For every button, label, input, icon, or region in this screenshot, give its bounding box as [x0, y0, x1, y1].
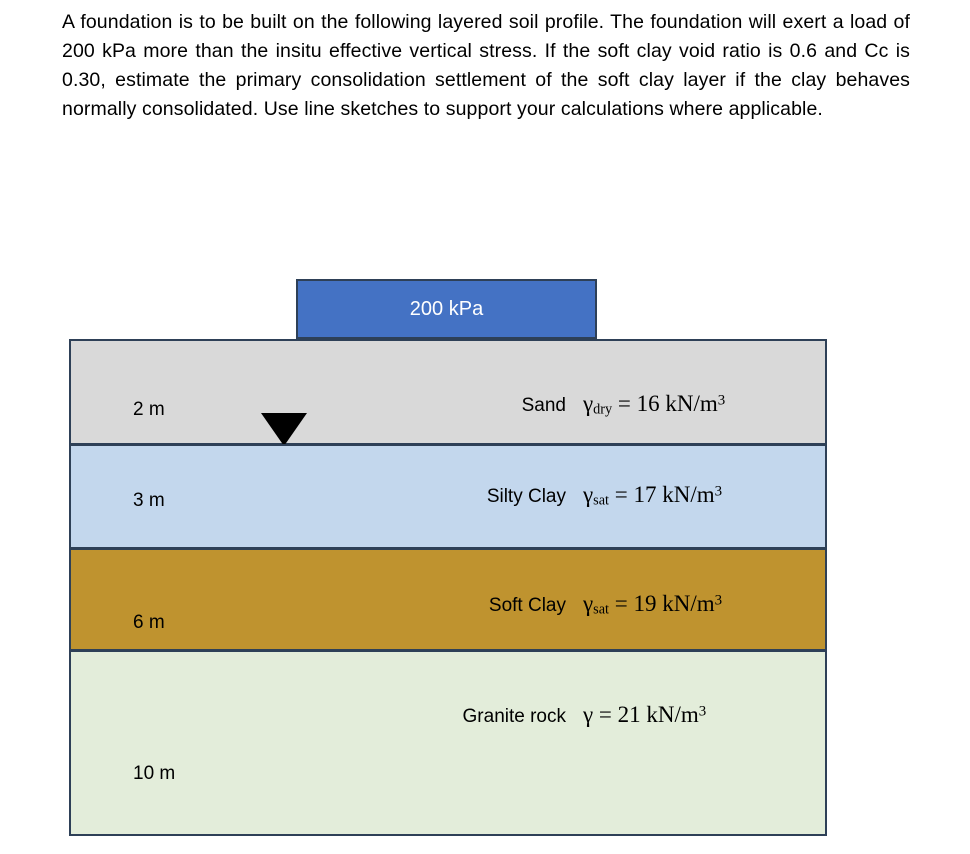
gamma-symbol-silty-clay: γ	[583, 482, 593, 507]
gamma-exponent-sand: 3	[718, 392, 725, 408]
unit-weight-silty-clay: γsat = 17 kN/m3	[583, 482, 722, 510]
gamma-subscript-sand: dry	[593, 402, 612, 418]
unit-weight-sand: γdry = 16 kN/m3	[583, 391, 725, 419]
gamma-exponent-silty-clay: 3	[715, 483, 722, 499]
soil-layer-soft-clay: 6 m Soft Clay γsat = 19 kN/m3	[69, 548, 827, 651]
gamma-symbol-sand: γ	[583, 391, 593, 416]
layer-name-sand: Sand	[411, 395, 566, 417]
foundation-load-block: 200 kPa	[296, 279, 597, 339]
gamma-value-granite-rock: = 21 kN/m	[599, 702, 699, 727]
gamma-symbol-soft-clay: γ	[583, 591, 593, 616]
soil-layer-granite-rock: 10 m Granite rock γ = 21 kN/m3	[69, 650, 827, 836]
soil-layer-silty-clay: 3 m Silty Clay γsat = 17 kN/m3	[69, 444, 827, 549]
layer-name-granite-rock: Granite rock	[391, 706, 566, 728]
soil-layer-stack: 2 m Sand γdry = 16 kN/m3 3 m Silty Clay …	[69, 339, 827, 836]
gamma-symbol-granite-rock: γ	[583, 702, 593, 727]
layer-thickness-soft-clay: 6 m	[133, 612, 165, 634]
gamma-subscript-soft-clay: sat	[593, 602, 609, 618]
layer-thickness-granite-rock: 10 m	[133, 763, 175, 785]
water-table-icon	[261, 413, 307, 446]
gamma-subscript-silty-clay: sat	[593, 493, 609, 509]
gamma-value-sand: = 16 kN/m	[618, 391, 718, 416]
foundation-load-label: 200 kPa	[410, 298, 483, 321]
soil-profile-diagram: 200 kPa 2 m Sand γdry = 16 kN/m3 3 m Sil…	[0, 0, 970, 854]
unit-weight-soft-clay: γsat = 19 kN/m3	[583, 591, 722, 619]
layer-name-soft-clay: Soft Clay	[411, 595, 566, 617]
layer-name-silty-clay: Silty Clay	[411, 486, 566, 508]
gamma-exponent-granite-rock: 3	[699, 703, 706, 719]
gamma-value-silty-clay: = 17 kN/m	[615, 482, 715, 507]
layer-thickness-silty-clay: 3 m	[133, 490, 165, 512]
gamma-value-soft-clay: = 19 kN/m	[615, 591, 715, 616]
layer-thickness-sand: 2 m	[133, 399, 165, 421]
unit-weight-granite-rock: γ = 21 kN/m3	[583, 702, 706, 730]
gamma-exponent-soft-clay: 3	[715, 592, 722, 608]
soil-layer-sand: 2 m Sand γdry = 16 kN/m3	[69, 339, 827, 445]
